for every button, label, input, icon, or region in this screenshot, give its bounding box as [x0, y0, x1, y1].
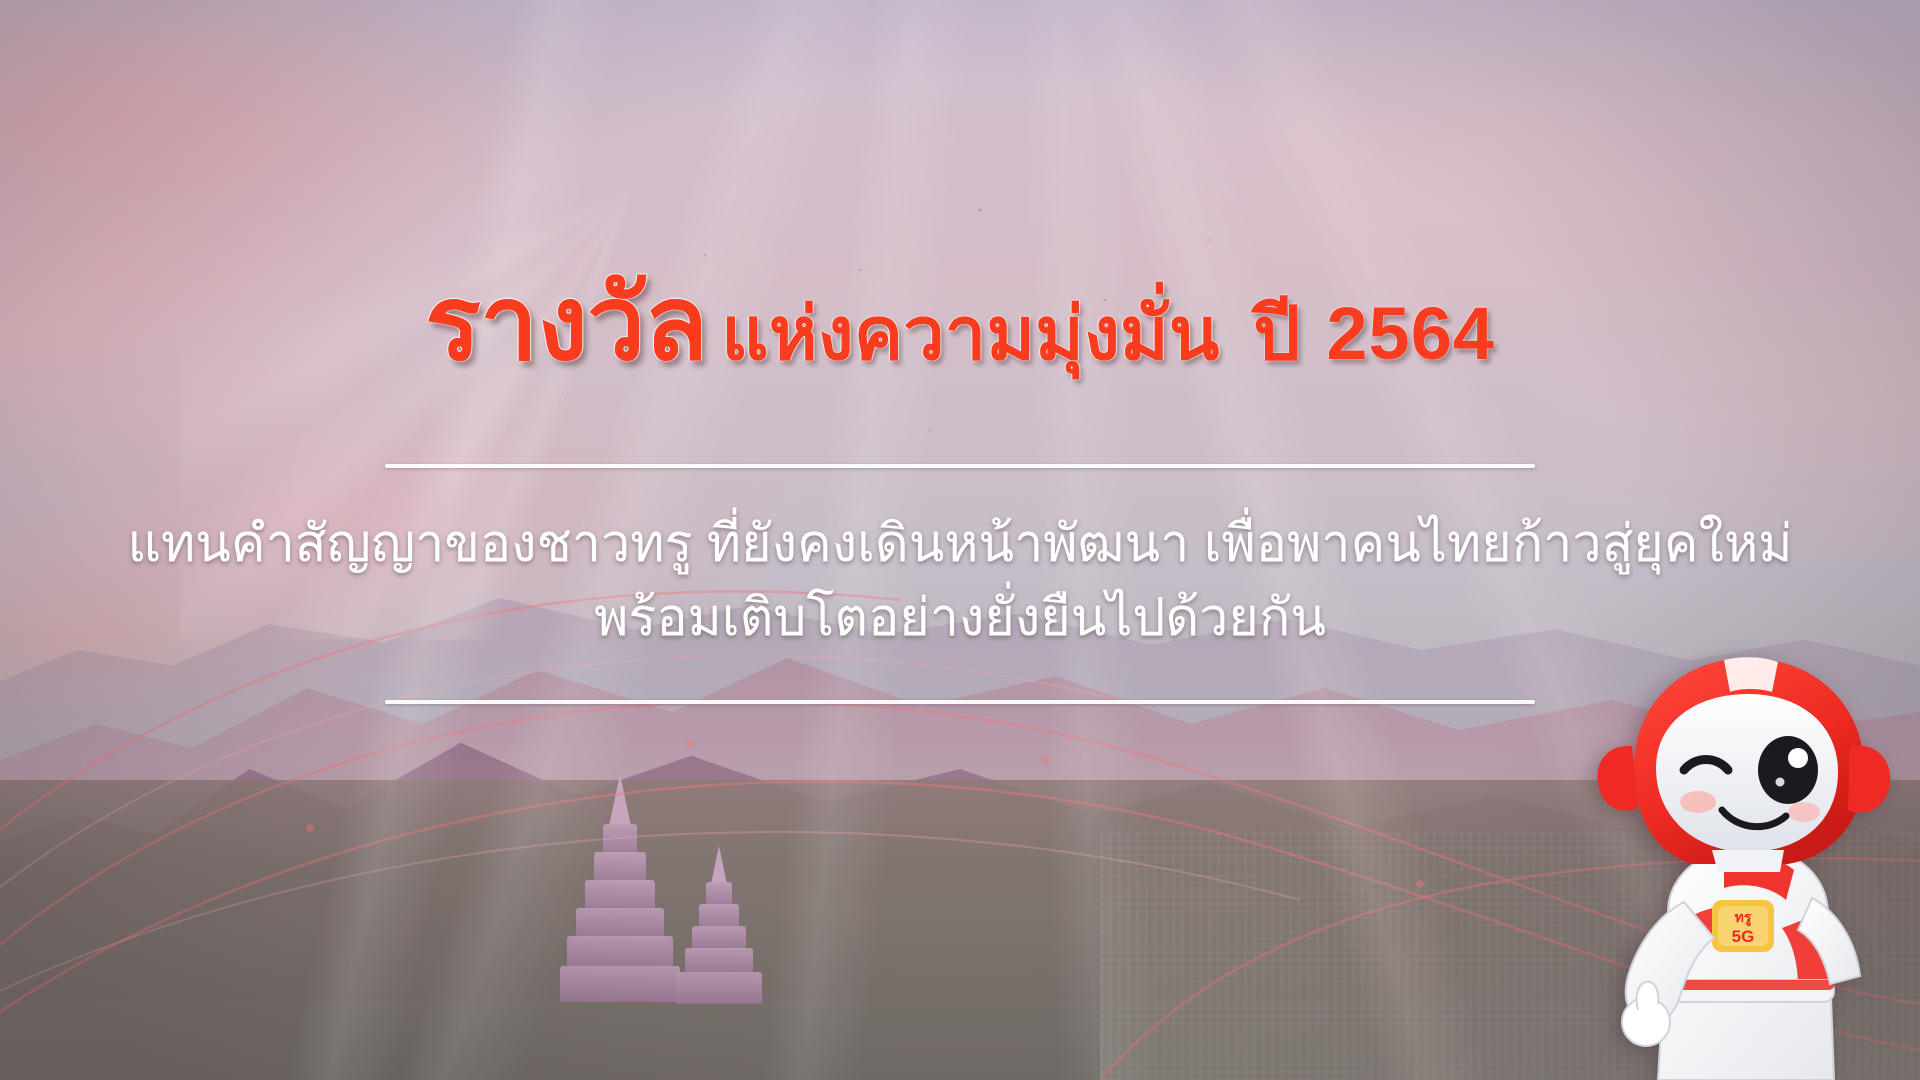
subtitle-line-2: พร้อมเติบโตอย่างยั่งยืนไปด้วยกัน	[127, 582, 1792, 656]
headline: รางวัล แห่งความมุ่งมั่น ปี 2564	[425, 272, 1495, 376]
divider-bottom	[385, 700, 1535, 704]
headline-year-value: 2564	[1326, 297, 1495, 371]
headline-regular: แห่งความมุ่งมั่น	[721, 297, 1219, 371]
banner-content: รางวัล แห่งความมุ่งมั่น ปี 2564 แทนคำสัญ…	[0, 0, 1920, 1080]
subtitle-line-1: แทนคำสัญญาของชาวทรู ที่ยังคงเดินหน้าพัฒน…	[127, 508, 1792, 582]
headline-strong: รางวัล	[425, 272, 707, 376]
banner-canvas: รางวัล แห่งความมุ่งมั่น ปี 2564 แทนคำสัญ…	[0, 0, 1920, 1080]
subtitle-block: แทนคำสัญญาของชาวทรู ที่ยังคงเดินหน้าพัฒน…	[127, 508, 1792, 656]
divider-top	[385, 464, 1535, 468]
headline-year-label: ปี	[1253, 297, 1300, 371]
